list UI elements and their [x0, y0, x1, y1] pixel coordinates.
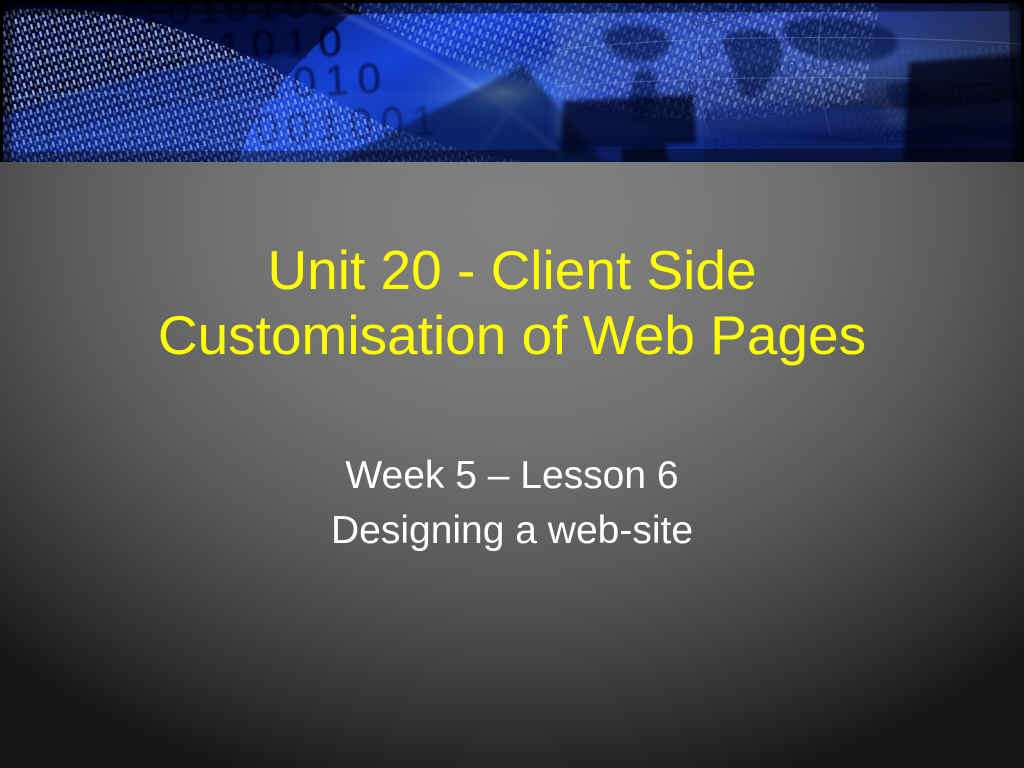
- banner-image-canvas: 1101010101001 10101 1010 110 0101 1010 1…: [3, 3, 1021, 162]
- banner-image: 1101010101001 10101 1010 110 0101 1010 1…: [0, 0, 1024, 162]
- binary-data-waves-graphic: 1101010101001 10101 1010 110 0101 1010 1…: [3, 3, 1021, 162]
- slide-title-line-1: Unit 20 - Client Side: [64, 238, 960, 303]
- slide-title: Unit 20 - Client Side Customisation of W…: [64, 238, 960, 368]
- slide-subtitle-line-2: Designing a web-site: [64, 503, 960, 558]
- slide-subtitle-line-1: Week 5 – Lesson 6: [64, 448, 960, 503]
- slide-title-line-2: Customisation of Web Pages: [64, 303, 960, 368]
- presentation-slide: 1101010101001 10101 1010 110 0101 1010 1…: [0, 0, 1024, 768]
- slide-subtitle: Week 5 – Lesson 6 Designing a web-site: [64, 448, 960, 558]
